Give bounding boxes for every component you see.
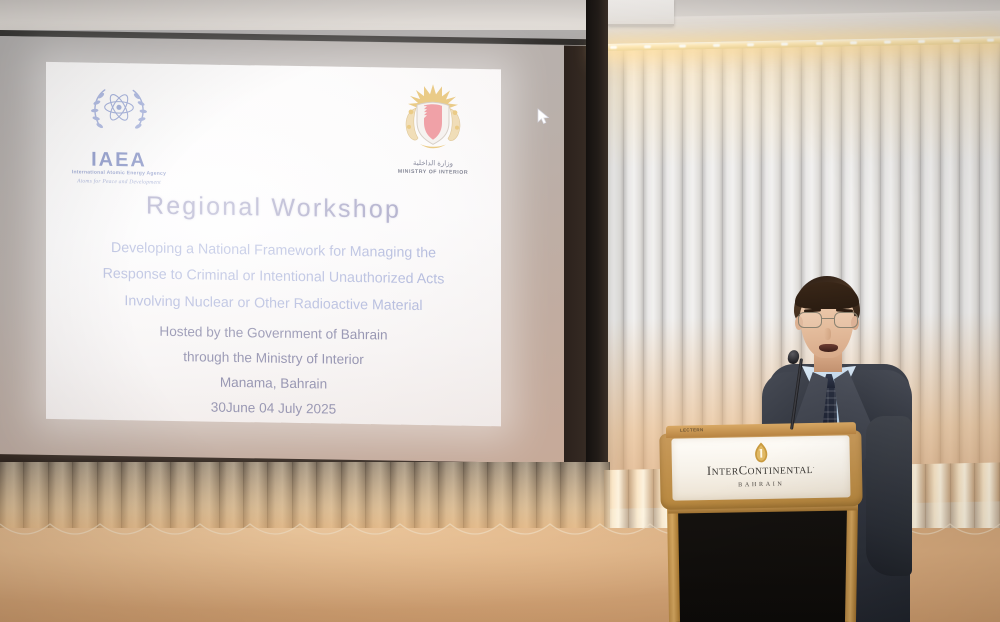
lectern-brand-rest: NTER [712, 466, 739, 478]
eyeglass-bridge [822, 318, 834, 319]
lectern-brand-mark: . [813, 464, 815, 470]
speaker-mouth [819, 344, 838, 352]
lectern-city: BAHRAIN [672, 479, 850, 489]
lectern-small-badge: LECTERN [680, 427, 704, 432]
bahrain-coat-of-arms-icon [398, 82, 468, 155]
eyeglass-lens-left [798, 312, 822, 328]
projection-screen: IAEA International Atomic Energy Agency … [0, 36, 608, 478]
conference-room-photo: IAEA International Atomic Energy Agency … [0, 0, 1000, 622]
ministry-of-interior-logo: وزارة الداخلية MINISTRY OF INTERIOR [387, 82, 479, 177]
moi-arabic-name: وزارة الداخلية [387, 160, 479, 169]
lectern-front-panel [676, 508, 848, 622]
speaker-arm-right [866, 416, 912, 576]
atom-laurel-wreath-icon [83, 82, 155, 143]
slide-title: Regional Workshop [46, 190, 501, 227]
lectern-face: INTERCONTINENTAL. BAHRAIN [659, 430, 862, 510]
eyeglass-lens-right [834, 312, 858, 328]
speaker-nose [824, 328, 831, 340]
projected-slide: IAEA International Atomic Energy Agency … [46, 62, 501, 427]
lectern: INTERCONTINENTAL. BAHRAIN LECTERN [660, 424, 860, 622]
iaea-full-name: International Atomic Energy Agency [60, 170, 178, 178]
moi-english-name: MINISTRY OF INTERIOR [387, 169, 479, 177]
intercontinental-crest-icon [753, 442, 768, 463]
lectern-leg-right [845, 504, 858, 622]
iaea-tagline: Atoms for Peace and Development [60, 178, 178, 186]
lectern-brand-c: C [739, 463, 748, 477]
lectern-sign-plate: INTERCONTINENTAL. BAHRAIN [671, 435, 850, 500]
slide-host-block: Hosted by the Government of Bahrain thro… [64, 317, 483, 425]
wall-top-glow [604, 41, 1000, 169]
screen-side-column [586, 0, 608, 462]
ceiling-light-recess [608, 0, 674, 26]
iaea-logo: IAEA International Atomic Energy Agency … [60, 82, 178, 186]
lectern-brand-tail: ONTINENTAL [748, 465, 814, 477]
iaea-acronym: IAEA [60, 149, 178, 171]
slide-subtitle: Developing a National Framework for Mana… [64, 234, 483, 320]
lectern-brand: INTERCONTINENTAL. [672, 462, 850, 478]
lectern-leg-left [667, 504, 680, 622]
mouse-pointer-icon[interactable] [537, 108, 550, 125]
